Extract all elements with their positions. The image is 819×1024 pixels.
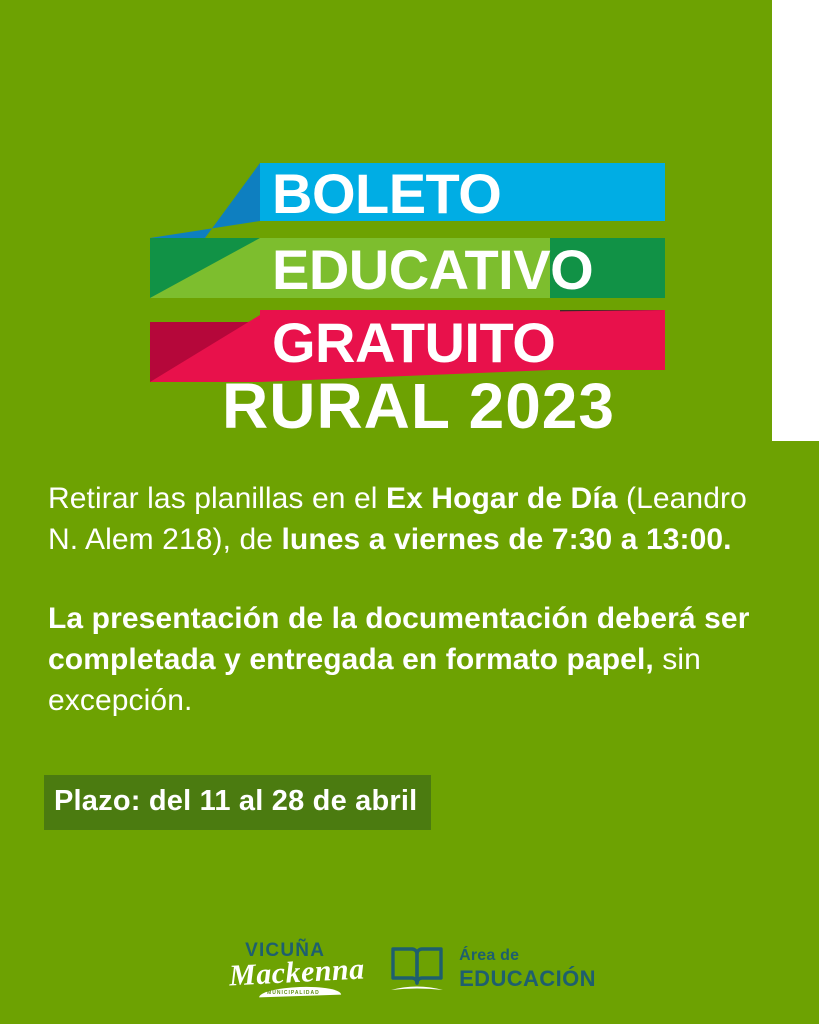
open-book-icon [389,943,445,995]
band-boleto-fold [150,163,260,238]
logo-subtitle: RURAL 2023 [0,372,819,440]
education-logo: Área de EDUCACIÓN [389,943,596,995]
education-line1: Área de [459,948,596,964]
footer: VICUÑA Mackenna MUNICIPALIDAD Área de ED… [0,938,819,1000]
education-text: Área de EDUCACIÓN [459,948,596,990]
doc-bold-text: La presentación de la documentación debe… [48,602,749,676]
pickup-bold-hours: lunes a viernes de 7:30 a 13:00. [281,523,731,556]
band-gratuito-label: GRATUITO [272,311,555,374]
brand-logo: BOLETO EDUCATIVO GRATUITO [150,155,670,390]
poster-canvas: BOLETO EDUCATIVO GRATUITO RURAL 2023 Ret… [0,0,819,1024]
body-copy: Retirar las planillas en el Ex Hogar de … [48,478,758,759]
municipality-logo: VICUÑA Mackenna MUNICIPALIDAD [229,938,349,1000]
brand-logo-svg: BOLETO EDUCATIVO GRATUITO [150,155,670,390]
band-educativo-label: EDUCATIVO [272,238,593,301]
education-line2: EDUCACIÓN [459,968,596,990]
band-boleto-label: BOLETO [272,162,501,225]
paragraph-documentation: La presentación de la documentación debe… [48,598,758,721]
pickup-bold-location: Ex Hogar de Día [386,482,618,515]
deadline-badge: Plazo: del 11 al 28 de abril [44,775,431,830]
paragraph-pickup: Retirar las planillas en el Ex Hogar de … [48,478,758,560]
pickup-text-1: Retirar las planillas en el [48,482,386,515]
deadline-wrapper: Plazo: del 11 al 28 de abril [44,775,431,830]
municipality-subtitle: MUNICIPALIDAD [267,990,320,996]
